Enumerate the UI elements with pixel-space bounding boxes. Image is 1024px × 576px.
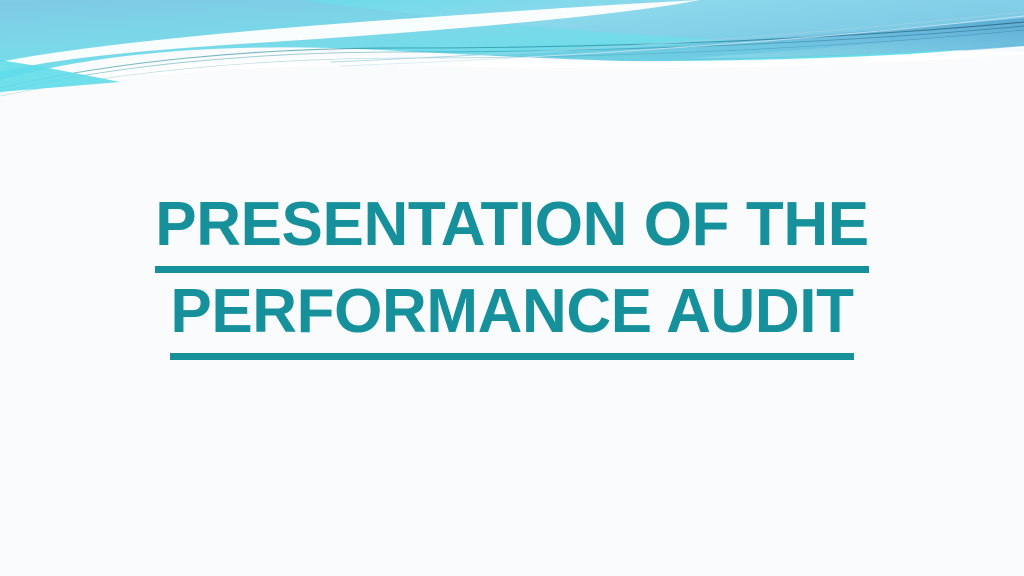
- wave-hairline-1: [0, 22, 1024, 88]
- wave-white-ribbon-upper: [0, 0, 700, 72]
- slide-title-line-1-text: PRESENTATION OF THE: [155, 186, 868, 273]
- decorative-wave-banner: [0, 0, 1024, 110]
- slide-title: PRESENTATION OF THE PERFORMANCE AUDIT: [96, 186, 928, 360]
- wave-sweep-blue: [430, 18, 1024, 62]
- slide-title-line-1: PRESENTATION OF THE: [96, 186, 928, 273]
- slide-title-line-2: PERFORMANCE AUDIT: [96, 273, 928, 360]
- slide-title-line-2-text: PERFORMANCE AUDIT: [170, 273, 853, 360]
- wave-white-sweep-main: [0, 47, 1024, 110]
- wave-hairline-5: [340, 16, 1024, 66]
- wave-graphic: [0, 0, 1024, 110]
- wave-band-secondary: [300, 0, 1024, 52]
- wave-hairline-2: [0, 26, 1024, 92]
- presentation-slide: PRESENTATION OF THE PERFORMANCE AUDIT: [0, 0, 1024, 576]
- wave-cyan-wedge-left: [0, 60, 120, 92]
- wave-white-ribbon-lower: [0, 46, 1024, 96]
- wave-band-base: [0, 0, 1024, 86]
- wave-hairline-3: [0, 30, 1024, 96]
- wave-sweep-blue-deep: [690, 30, 1024, 58]
- wave-hairline-4: [330, 12, 1024, 62]
